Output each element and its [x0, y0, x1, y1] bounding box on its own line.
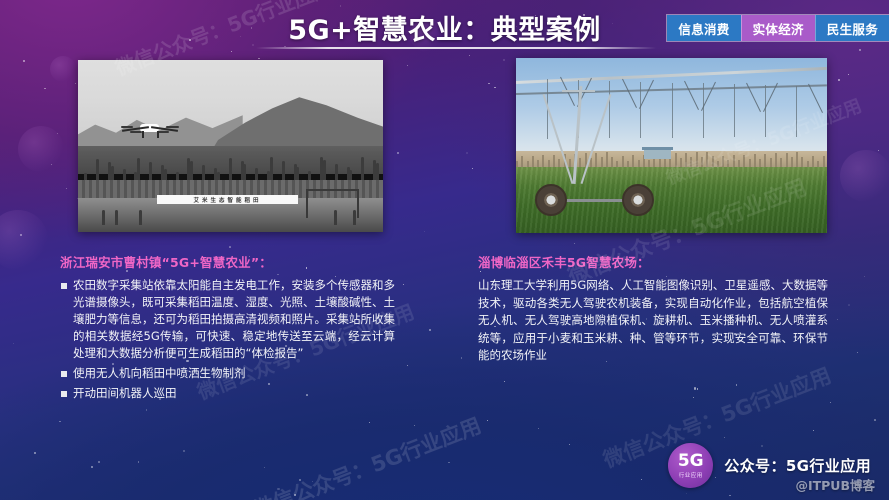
badge-label: 民生服务	[827, 19, 878, 38]
bokeh-decoration	[18, 126, 64, 172]
right-case-body: 山东理工大学利用5G网络、人工智能图像识别、卫星遥感、大数据等技术，驱动各类无人…	[478, 277, 828, 365]
right-case-heading: 淄博临淄区禾丰5G智慧农场：	[478, 252, 828, 271]
irrigation-tower	[553, 86, 603, 184]
drop-pipe	[640, 82, 641, 138]
footer-branding: 5G 行业应用 公众号：5G行业应用	[668, 443, 871, 488]
bokeh-decoration	[840, 150, 889, 202]
drop-pipe	[703, 83, 704, 137]
badge-label: 信息消费	[678, 19, 729, 38]
right-case-column: 淄博临淄区禾丰5G智慧农场： 山东理工大学利用5G网络、人工智能图像识别、卫星遥…	[478, 252, 828, 365]
drop-pipe	[672, 83, 673, 138]
rig-wheel	[535, 184, 567, 216]
drone-leg	[142, 131, 144, 138]
person-figure	[334, 210, 337, 225]
list-item: 农田数字采集站依靠太阳能自主发电工作，安装多个传感器和多光谱摄像头，既可采集稻田…	[60, 277, 395, 362]
watermark-text: 微信公众号：5G行业应用	[249, 410, 486, 500]
person-figure	[353, 210, 356, 225]
footer-account-text: 公众号：5G行业应用	[724, 455, 871, 476]
left-case-bullet-list: 农田数字采集站依靠太阳能自主发电工作，安装多个传感器和多光谱摄像头，既可采集稻田…	[60, 277, 395, 402]
rig-wheel	[622, 184, 654, 216]
photo-render-right	[516, 58, 827, 233]
left-case-heading: 浙江瑞安市曹村镇“5G+智慧农业”：	[60, 252, 395, 271]
badge-information-consumption[interactable]: 信息消费	[667, 15, 740, 41]
drop-pipe	[796, 86, 797, 137]
photo-render-left: 艾米生态智能稻田	[78, 60, 383, 232]
left-case-column: 浙江瑞安市曹村镇“5G+智慧农业”： 农田数字采集站依靠太阳能自主发电工作，安装…	[60, 252, 395, 405]
title-underline	[256, 47, 656, 49]
drone-rotor	[158, 131, 170, 133]
badge-public-services[interactable]: 民生服务	[815, 15, 889, 41]
drone-figure	[121, 118, 179, 138]
slide-canvas: 5G+智慧农业：典型案例 信息消费 实体经济 民生服务 艾米生态智能稻田	[0, 0, 889, 500]
center-pivot-irrigation-photo	[516, 58, 827, 233]
drop-pipe	[609, 81, 610, 138]
field-gate	[306, 189, 359, 219]
bokeh-decoration	[0, 210, 48, 270]
drop-pipe	[765, 85, 766, 137]
5g-logo: 5G 行业应用	[668, 443, 713, 488]
logo-main-text: 5G	[678, 453, 704, 470]
bokeh-decoration	[50, 56, 76, 82]
category-badge-bar: 信息消费 实体经济 民生服务	[666, 14, 889, 42]
drone-leg	[157, 131, 159, 138]
drone-rotor	[130, 131, 142, 133]
field-banner-label: 艾米生态智能稻田	[157, 195, 297, 204]
field-banner: 艾米生态智能稻田	[157, 195, 297, 204]
list-item: 使用无人机向稻田中喷洒生物制剂	[60, 365, 395, 382]
person-figure	[102, 210, 105, 225]
badge-real-economy[interactable]: 实体经济	[741, 15, 815, 41]
person-figure	[139, 210, 142, 225]
tower-crossbar	[562, 90, 595, 92]
logo-sub-text: 行业应用	[679, 471, 703, 479]
drone-spraying-rice-field-photo: 艾米生态智能稻田	[78, 60, 383, 232]
list-item: 开动田间机器人巡田	[60, 385, 395, 402]
person-figure	[115, 210, 118, 225]
farm-building	[644, 150, 672, 159]
badge-label: 实体经济	[753, 19, 804, 38]
drop-pipe	[734, 84, 735, 137]
tower-post	[573, 86, 583, 184]
